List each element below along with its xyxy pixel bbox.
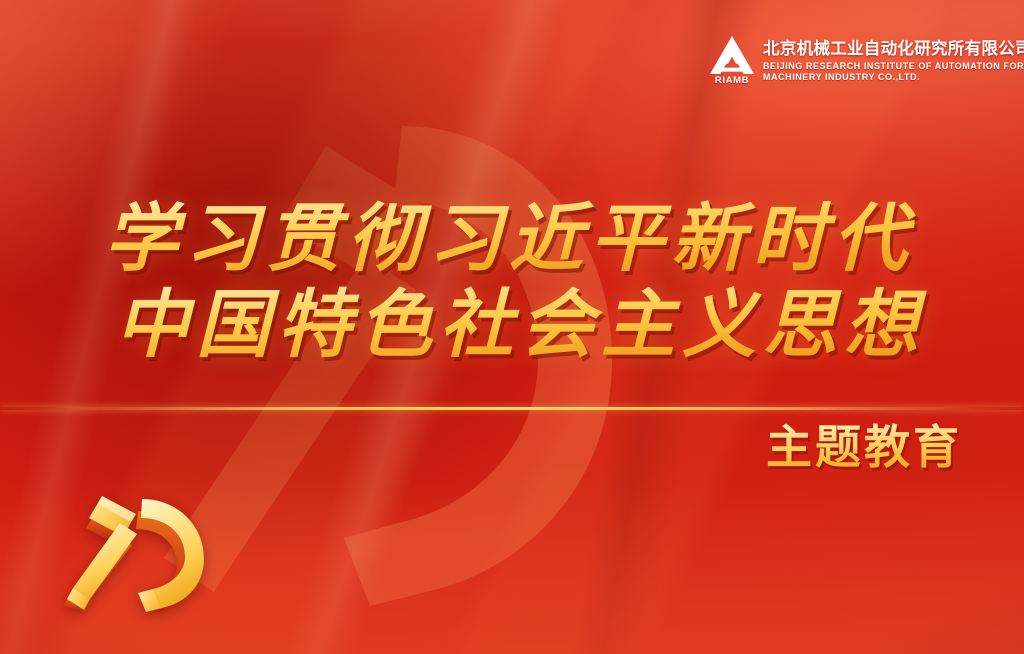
headline-line-2: 中国特色社会主义思想 xyxy=(8,282,1024,368)
headline-line-1: 学习贯彻习近平新时代 xyxy=(0,196,1021,282)
poster-canvas: RIAMB 北京机械工业自动化研究所有限公司 BEIJING RESEARCH … xyxy=(0,0,1024,654)
hammer-and-sickle-emblem xyxy=(60,487,220,612)
gold-divider-core xyxy=(184,408,839,410)
company-logo: RIAMB 北京机械工业自动化研究所有限公司 BEIJING RESEARCH … xyxy=(710,36,1024,86)
company-name-en-line1: BEIJING RESEARCH INSTITUTE OF AUTOMATION… xyxy=(763,61,1024,72)
company-name-en-line2: MACHINERY INDUSTRY CO.,LTD. xyxy=(763,72,1024,83)
headline-block: 学习贯彻习近平新时代 中国特色社会主义思想 xyxy=(0,196,1024,368)
company-name-block: 北京机械工业自动化研究所有限公司 BEIJING RESEARCH INSTIT… xyxy=(763,40,1024,83)
company-name-cn: 北京机械工业自动化研究所有限公司 xyxy=(763,40,1024,59)
subtitle-text: 主题教育 xyxy=(766,421,962,473)
riamb-triangle-icon: RIAMB xyxy=(710,36,754,86)
riamb-caption: RIAMB xyxy=(710,75,754,86)
